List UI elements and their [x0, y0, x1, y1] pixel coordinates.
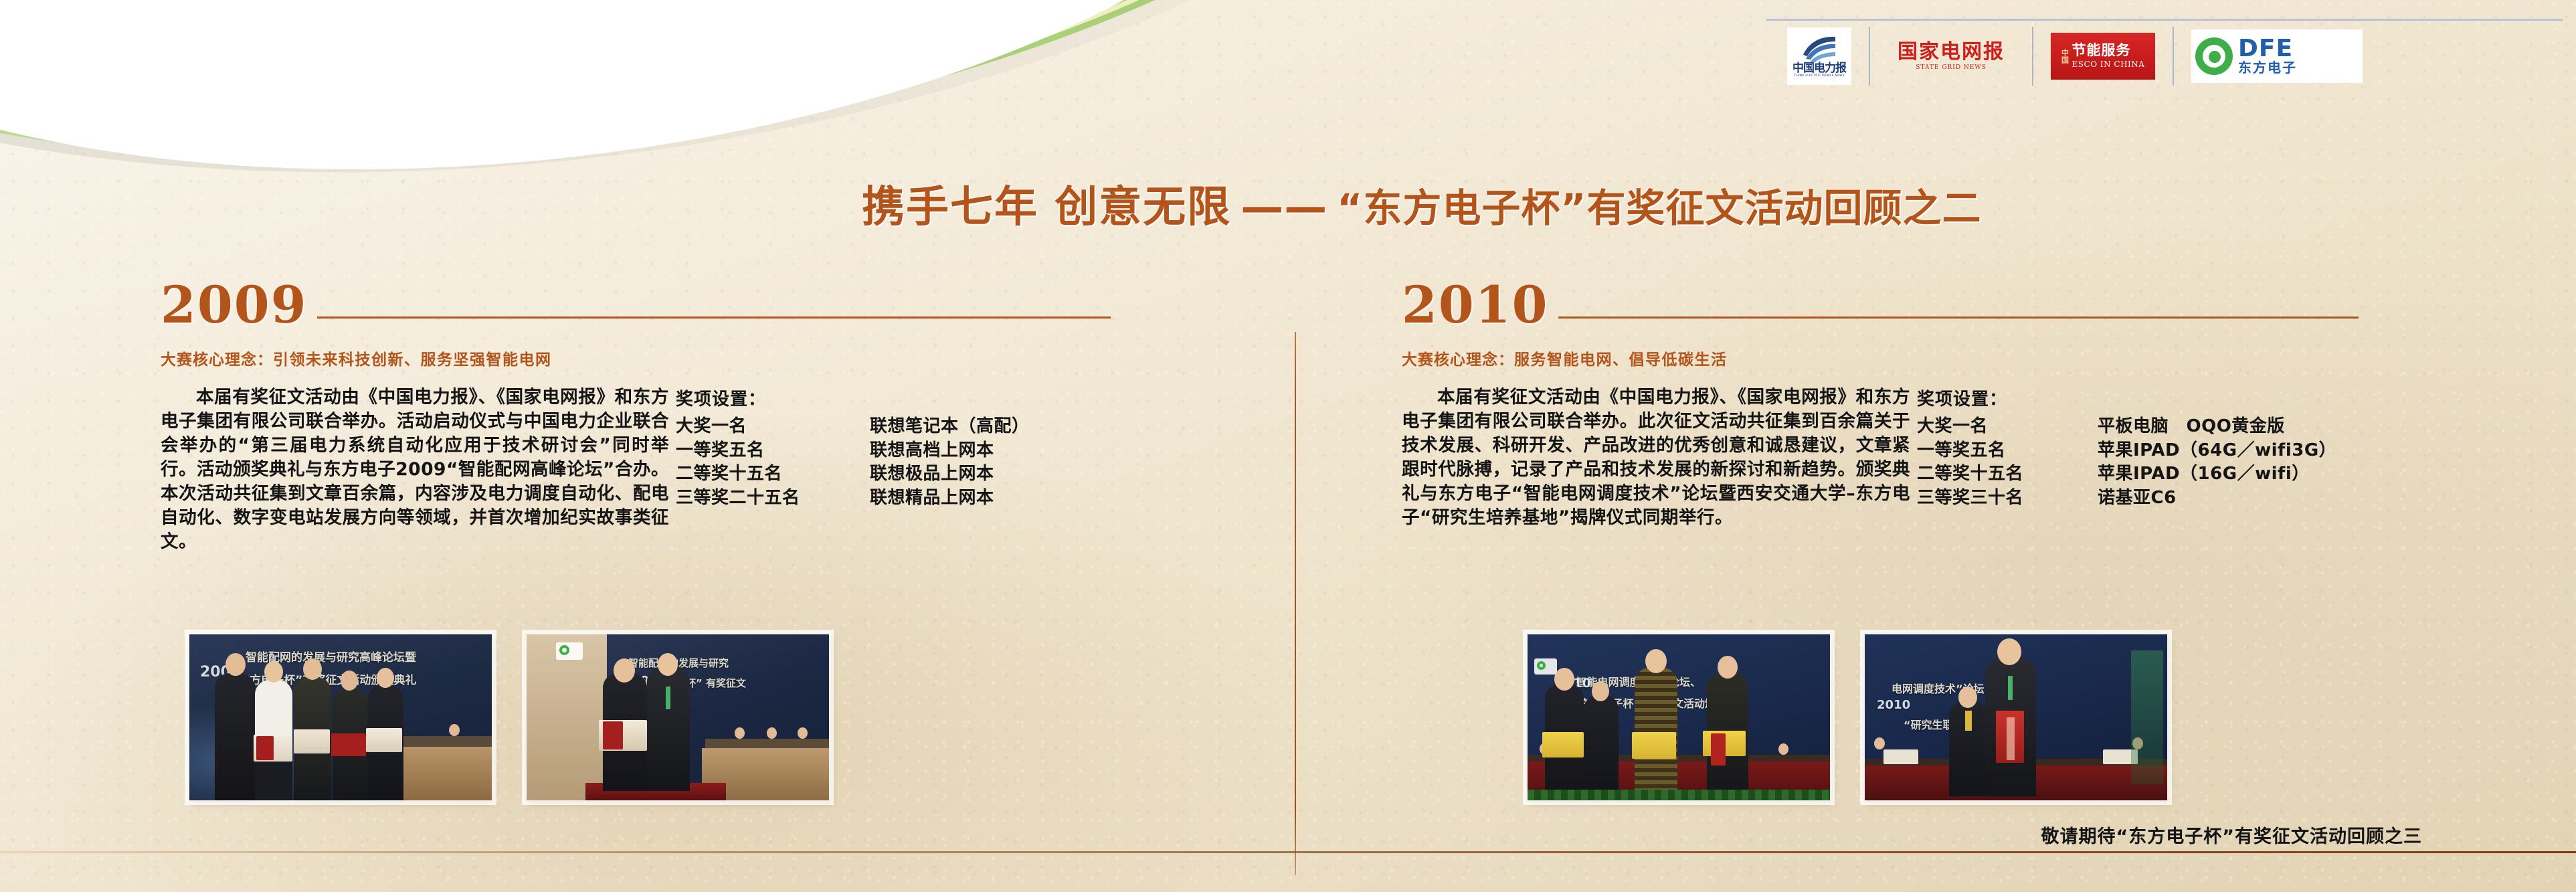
award-row: 一等奖五名 苹果IPAD（64G／wifi3G） — [1917, 439, 2336, 463]
award-row: 大奖一名 联想笔记本（高配） — [676, 415, 1030, 439]
header-rule — [1766, 19, 2563, 21]
awards-title: 奖项设置： — [676, 385, 1030, 410]
award-rank: 二等奖十五名 — [1917, 462, 2098, 486]
award-prize: 平板电脑 OQO黄金版 — [2098, 415, 2285, 439]
concept-label: 大赛核心理念： — [161, 351, 273, 369]
photo-plants-row — [1528, 790, 1830, 800]
sgn-cn-label: 国家电网报 — [1898, 41, 2005, 63]
logo-esco-in-china: 中国 节能服务 ESCO IN CHINA — [2033, 27, 2173, 86]
footer-rule — [0, 851, 2576, 853]
photo-banner-year: 2010 — [1877, 698, 1910, 712]
photo-2009-award-group: 智能配网的发展与研究高峰论坛暨 2009 “东方电子杯”有奖征文活动颁奖典礼 — [189, 634, 492, 800]
necktie — [1965, 711, 1972, 731]
poster-canvas: 中国电力报 CHINA ELECTRIC POWER NEWS 国家电网报 ST… — [0, 0, 2576, 892]
award-prize: 诺基亚C6 — [2098, 486, 2177, 511]
body-text-2010: 本届有奖征文活动由《中国电力报》、《国家电网报》和东方电子集团有限公司联合举办。… — [1402, 385, 1910, 530]
award-row: 三等奖三十名 诺基亚C6 — [1917, 486, 2336, 511]
cepn-cn-label: 中国电力报 — [1792, 63, 1846, 74]
year-rule — [317, 317, 1111, 319]
awards-block-2010: 奖项设置： 大奖一名 平板电脑 OQO黄金版 一等奖五名 苹果IPAD（64G／… — [1917, 385, 2336, 530]
title-subtitle: “东方电子杯”有奖征文活动回顾之二 — [1337, 185, 1981, 231]
award-row: 二等奖十五名 苹果IPAD（16G／wifi） — [1917, 462, 2336, 486]
photo-2009-award-single: 智能配网的发展与研究 2009 “东方电子杯” 有奖征文 — [527, 634, 829, 800]
photo-2010-award-single: 电网调度技术”论坛 “研究生联合培养基地” 2010 — [1865, 634, 2167, 800]
year-heading-2009: 2009 — [161, 281, 1111, 329]
year-label: 2010 — [1402, 281, 1549, 329]
column-divider — [1295, 332, 1296, 875]
award-rank: 大奖一名 — [1917, 415, 2098, 439]
sgn-logo-box: 国家电网报 STATE GRID NEWS — [1888, 27, 2015, 85]
cepn-wing-icon — [1801, 35, 1838, 63]
award-row: 一等奖五名 联想高档上网本 — [676, 439, 1030, 463]
esco-cn-label: 节能服务 — [2072, 43, 2145, 58]
section-2010: 2010 大赛核心理念：服务智能电网、倡导低碳生活 本届有奖征文活动由《中国电力… — [1402, 281, 2359, 530]
title-dash: —— — [1231, 183, 1337, 232]
award-prize: 苹果IPAD（16G／wifi） — [2098, 462, 2310, 486]
esco-en-label: ESCO IN CHINA — [2072, 60, 2145, 69]
award-row: 三等奖二十五名 联想精品上网本 — [676, 486, 1030, 511]
year-heading-2010: 2010 — [1402, 281, 2359, 329]
award-prize: 联想精品上网本 — [870, 486, 994, 511]
awards-title: 奖项设置： — [1917, 385, 2336, 410]
dfe-logo-box: DFE 东方电子 — [2191, 29, 2363, 83]
award-prize: 联想高档上网本 — [870, 439, 994, 463]
award-rank: 一等奖五名 — [676, 439, 870, 463]
photo-2010-award-group: “智能电网调度技术”论坛、 2010 “东方电子杯”有奖征文活动颁奖典礼 — [1528, 634, 1830, 800]
award-prize: 联想笔记本（高配） — [870, 415, 1030, 439]
photo-strip-2010: “智能电网调度技术”论坛、 2010 “东方电子杯”有奖征文活动颁奖典礼 — [1528, 634, 2167, 800]
logo-state-grid-news: 国家电网报 STATE GRID NEWS — [1870, 27, 2032, 86]
award-rank: 二等奖十五名 — [676, 462, 870, 486]
esco-text-group: 节能服务 ESCO IN CHINA — [2072, 43, 2145, 69]
award-row: 二等奖十五名 联想极品上网本 — [676, 462, 1030, 486]
cepn-logo-box: 中国电力报 CHINA ELECTRIC POWER NEWS — [1787, 27, 1851, 85]
dfe-circle-icon — [2195, 37, 2233, 75]
esco-logo-box: 中国 节能服务 ESCO IN CHINA — [2051, 33, 2155, 80]
award-rank: 大奖一名 — [676, 415, 870, 439]
esco-mark-icon: 中国 — [2061, 49, 2069, 64]
award-prize: 苹果IPAD（64G／wifi3G） — [2098, 439, 2336, 463]
photo-strip-2009: 智能配网的发展与研究高峰论坛暨 2009 “东方电子杯”有奖征文活动颁奖典礼 — [189, 634, 829, 800]
dfe-text-group: DFE 东方电子 — [2238, 37, 2297, 75]
award-rank: 三等奖二十五名 — [676, 486, 870, 511]
concept-label: 大赛核心理念： — [1402, 351, 1514, 369]
year-label: 2009 — [161, 281, 308, 329]
dfe-en-label: DFE — [2238, 37, 2297, 60]
content-row-2010: 本届有奖征文活动由《中国电力报》、《国家电网报》和东方电子集团有限公司联合举办。… — [1402, 385, 2359, 530]
award-rank: 三等奖三十名 — [1917, 486, 2098, 511]
page-title: 携手七年 创意无限——“东方电子杯”有奖征文活动回顾之二 — [862, 186, 1982, 229]
concept-value: 服务智能电网、倡导低碳生活 — [1514, 351, 1728, 369]
year-rule — [1558, 317, 2359, 319]
awards-block-2009: 奖项设置： 大奖一名 联想笔记本（高配） 一等奖五名 联想高档上网本 二等奖十五… — [676, 385, 1030, 554]
concept-line-2009: 大赛核心理念：引领未来科技创新、服务坚强智能电网 — [161, 347, 1111, 369]
dfe-cn-label: 东方电子 — [2238, 60, 2297, 75]
footnote: 敬请期待“东方电子杯”有奖征文活动回顾之三 — [2041, 822, 2423, 848]
award-row: 大奖一名 平板电脑 OQO黄金版 — [1917, 415, 2336, 439]
award-rank: 一等奖五名 — [1917, 439, 2098, 463]
logo-china-electric-power-news: 中国电力报 CHINA ELECTRIC POWER NEWS — [1770, 27, 1869, 86]
name-card — [1883, 749, 1918, 764]
partner-logo-strip: 中国电力报 CHINA ELECTRIC POWER NEWS 国家电网报 ST… — [1770, 27, 2380, 86]
section-2009: 2009 大赛核心理念：引领未来科技创新、服务坚强智能电网 本届有奖征文活动由《… — [161, 281, 1111, 554]
concept-value: 引领未来科技创新、服务坚强智能电网 — [273, 351, 552, 369]
cepn-en-label: CHINA ELECTRIC POWER NEWS — [1794, 74, 1844, 78]
logo-dfe: DFE 东方电子 — [2174, 27, 2380, 86]
sgn-en-label: STATE GRID NEWS — [1916, 64, 1987, 71]
title-main: 携手七年 创意无限 — [862, 183, 1231, 232]
body-text-2009: 本届有奖征文活动由《中国电力报》、《国家电网报》和东方电子集团有限公司联合举办。… — [161, 385, 669, 554]
award-prize: 联想极品上网本 — [870, 462, 994, 486]
concept-line-2010: 大赛核心理念：服务智能电网、倡导低碳生活 — [1402, 347, 2359, 369]
content-row-2009: 本届有奖征文活动由《中国电力报》、《国家电网报》和东方电子集团有限公司联合举办。… — [161, 385, 1111, 554]
